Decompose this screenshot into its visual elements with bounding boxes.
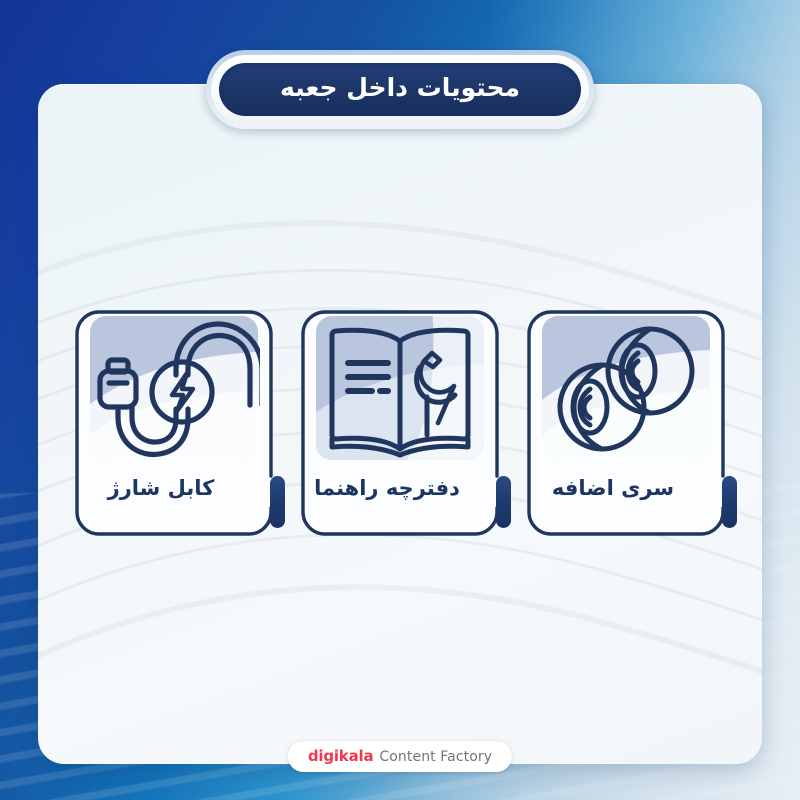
header-banner: محتویات داخل جعبه [206, 50, 594, 129]
page-title: محتویات داخل جعبه [263, 74, 537, 102]
brand-name: digikala [308, 747, 374, 765]
digikala-brand-badge: digikala Content Factory [288, 741, 512, 772]
box-contents-card-row: کابل شارژ [0, 300, 800, 546]
ear-tips-icon [540, 312, 712, 464]
brand-subtitle: Content Factory [379, 749, 492, 765]
card-label-charging-cable: کابل شارژ [70, 475, 252, 501]
infographic-canvas: محتویات داخل جعبه [0, 0, 800, 800]
card-accent-tab [270, 476, 285, 528]
header-pill-outer-frame: محتویات داخل جعبه [206, 50, 594, 129]
header-pill-inner: محتویات داخل جعبه [219, 63, 581, 116]
card-accent-tab [722, 476, 737, 528]
card-charging-cable[interactable]: کابل شارژ [70, 300, 278, 546]
card-label-extra-eartips: سری اضافه [522, 475, 704, 501]
card-label-user-manual: دفترچه راهنما [296, 475, 478, 501]
header-pill-white-frame: محتویات داخل جعبه [211, 55, 589, 124]
card-user-manual[interactable]: دفترچه راهنما [296, 300, 504, 546]
manual-book-wrench-icon [314, 312, 486, 464]
card-accent-tab [496, 476, 511, 528]
card-extra-eartips[interactable]: سری اضافه [522, 300, 730, 546]
charging-cable-icon [88, 312, 260, 464]
